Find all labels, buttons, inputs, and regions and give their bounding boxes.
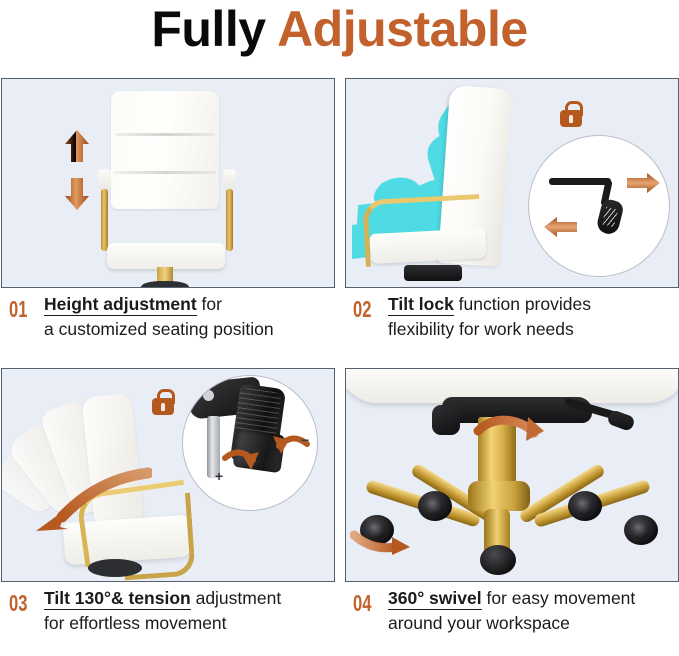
tension-knob-inset: + − xyxy=(182,375,318,511)
feature-cell-01: 01 Height adjustment for a customized se… xyxy=(1,78,335,366)
chair-arm-rail xyxy=(362,194,482,267)
feature-text-01: Height adjustment for a customized seati… xyxy=(44,292,334,342)
feature-line2-04: around your workspace xyxy=(388,613,570,633)
knob-screw xyxy=(203,390,214,401)
infographic-page: Fully Adjustable xyxy=(0,0,679,654)
feature-caption-01: 01 Height adjustment for a customized se… xyxy=(1,292,335,362)
tilt-lock-lever-inset xyxy=(528,135,670,277)
feature-image-04 xyxy=(345,368,679,582)
feature-caption-03: 03 Tilt 130°& tension adjustment for eff… xyxy=(1,586,335,656)
curved-arrow-icon xyxy=(22,467,152,539)
feature-strong-02: Tilt lock xyxy=(388,294,454,316)
feature-caption-04: 04 360° swivel for easy movement around … xyxy=(345,586,679,656)
caster-wheel-2 xyxy=(418,491,452,521)
feature-cell-02: 02 Tilt lock function provides flexibili… xyxy=(345,78,679,366)
chair-seat xyxy=(107,243,225,269)
feature-number-04: 04 xyxy=(353,590,371,617)
feature-image-01 xyxy=(1,78,335,288)
feature-cell-03: + − 03 Tilt 130°& tension adjustment for… xyxy=(1,368,335,656)
title-part-two: Adjustable xyxy=(277,1,528,57)
feature-rest-02: function provides xyxy=(454,294,591,314)
padlock-icon xyxy=(560,101,582,127)
rotation-arrow-icon-caster xyxy=(350,527,412,557)
rotation-arrow-icon-top xyxy=(472,413,546,447)
arrow-left-icon xyxy=(543,216,577,238)
feature-number-01: 01 xyxy=(9,296,27,323)
rotate-plus-arrow-icon xyxy=(221,444,261,478)
title-part-one: Fully xyxy=(151,1,277,57)
feature-rest-03: adjustment xyxy=(191,588,281,608)
feature-image-03: + − xyxy=(1,368,335,582)
arrow-down-icon xyxy=(64,177,90,211)
feature-text-04: 360° swivel for easy movement around you… xyxy=(388,586,678,636)
feature-line2-03: for effortless movement xyxy=(44,613,227,633)
feature-strong-04: 360° swivel xyxy=(388,588,482,610)
feature-line2-02: flexibility for work needs xyxy=(388,319,574,339)
chair-armrest-left xyxy=(98,169,111,249)
feature-grid: 01 Height adjustment for a customized se… xyxy=(0,78,679,654)
caster-wheel-5 xyxy=(480,545,516,575)
tension-knob xyxy=(432,405,460,435)
arrow-up-icon xyxy=(64,129,90,163)
chair-front-view xyxy=(97,91,237,288)
feature-number-03: 03 xyxy=(9,590,27,617)
chair-base-side xyxy=(404,265,462,281)
chair-base xyxy=(141,281,189,288)
chair-base-side xyxy=(88,559,142,577)
chair-armrest-right xyxy=(223,169,236,249)
feature-line2-01: a customized seating position xyxy=(44,319,274,339)
feature-text-02: Tilt lock function provides flexibility … xyxy=(388,292,678,342)
height-lever-handle xyxy=(606,409,636,432)
page-title: Fully Adjustable xyxy=(0,0,679,62)
lever-arm xyxy=(549,178,611,185)
feature-strong-01: Height adjustment xyxy=(44,294,197,316)
caster-wheel-4 xyxy=(624,515,658,545)
minus-sign: − xyxy=(301,432,309,448)
chair-backrest xyxy=(111,91,219,209)
feature-number-02: 02 xyxy=(353,296,371,323)
caster-wheel-3 xyxy=(568,491,602,521)
feature-cell-04: 04 360° swivel for easy movement around … xyxy=(345,368,679,656)
arrow-right-icon xyxy=(627,172,661,194)
feature-image-02 xyxy=(345,78,679,288)
feature-caption-02: 02 Tilt lock function provides flexibili… xyxy=(345,292,679,362)
base-hub xyxy=(468,481,530,511)
feature-rest-04: for easy movement xyxy=(482,588,636,608)
plus-sign: + xyxy=(215,468,223,484)
padlock-icon xyxy=(152,389,174,415)
feature-strong-03: Tilt 130°& tension xyxy=(44,588,191,610)
feature-rest-01: for xyxy=(197,294,222,314)
lever-handle xyxy=(595,198,625,236)
feature-text-03: Tilt 130°& tension adjustment for effort… xyxy=(44,586,334,636)
